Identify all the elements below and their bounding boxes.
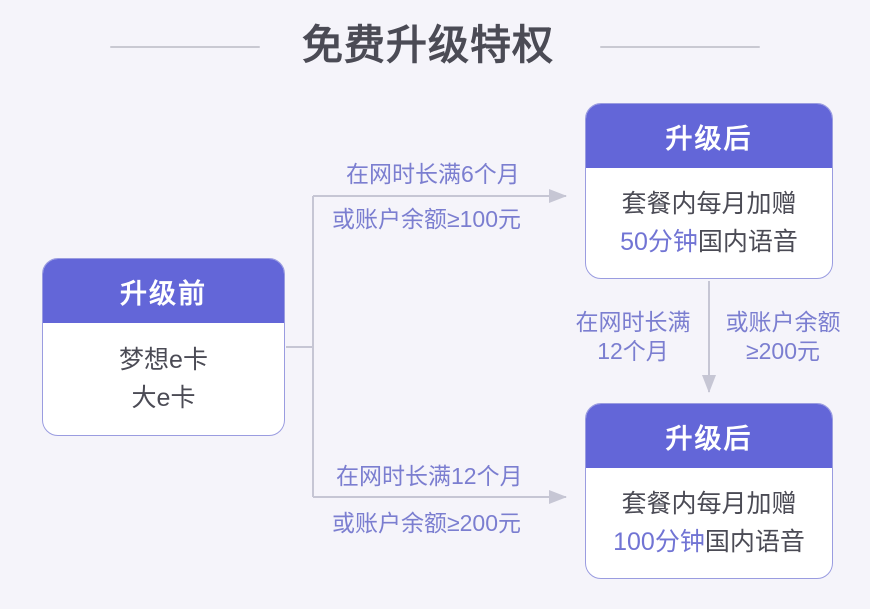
page-title: 免费升级特权 <box>302 25 554 66</box>
edge-label-top-condition-2: 或账户余额≥100元 <box>332 205 521 234</box>
edge-label-middle-right-line-1: 或账户余额 <box>718 308 848 337</box>
page-title-block: 免费升级特权 <box>0 10 870 80</box>
card-after-upgrade-bottom-value: 100分钟 <box>613 528 705 556</box>
card-after-upgrade-bottom-line-2: 100分钟国内语音 <box>613 523 805 561</box>
card-after-upgrade-top-unit: 国内语音 <box>698 228 798 256</box>
title-rule-left <box>110 46 260 48</box>
card-after-upgrade-bottom-unit: 国内语音 <box>705 528 805 556</box>
edge-label-middle-left-line-2: 12个月 <box>568 337 698 366</box>
card-before-upgrade-line-2: 大e卡 <box>132 379 196 417</box>
edge-label-bottom-condition-1: 在网时长满12个月 <box>336 462 523 491</box>
title-rule-right <box>600 46 760 48</box>
edge-label-top-condition-1: 在网时长满6个月 <box>346 160 520 189</box>
card-before-upgrade-header: 升级前 <box>43 259 284 323</box>
card-after-upgrade-bottom-header: 升级后 <box>586 404 832 468</box>
edge-label-middle-left-line-1: 在网时长满 <box>568 308 698 337</box>
edge-label-bottom-condition-2: 或账户余额≥200元 <box>332 509 521 538</box>
edge-label-middle-left: 在网时长满 12个月 <box>568 308 698 366</box>
diagram-canvas: 免费升级特权 升级前 梦想e卡 大e卡 升级后 套餐内每月加赠 <box>0 0 870 609</box>
card-before-upgrade-body: 梦想e卡 大e卡 <box>43 323 284 435</box>
edge-label-middle-right-line-2: ≥200元 <box>718 337 848 366</box>
card-after-upgrade-bottom-line-1: 套餐内每月加赠 <box>621 485 796 523</box>
card-before-upgrade-line-1: 梦想e卡 <box>119 341 208 379</box>
card-after-upgrade-top-body: 套餐内每月加赠 50分钟国内语音 <box>586 168 832 278</box>
card-after-upgrade-top-line-2: 50分钟国内语音 <box>620 223 798 261</box>
card-after-upgrade-bottom: 升级后 套餐内每月加赠 100分钟国内语音 <box>585 403 833 579</box>
card-after-upgrade-top-header: 升级后 <box>586 104 832 168</box>
edge-label-middle-right: 或账户余额 ≥200元 <box>718 308 848 366</box>
card-before-upgrade: 升级前 梦想e卡 大e卡 <box>42 258 285 436</box>
card-after-upgrade-top: 升级后 套餐内每月加赠 50分钟国内语音 <box>585 103 833 279</box>
card-after-upgrade-top-line-1: 套餐内每月加赠 <box>621 185 796 223</box>
card-after-upgrade-bottom-body: 套餐内每月加赠 100分钟国内语音 <box>586 468 832 578</box>
card-after-upgrade-top-value: 50分钟 <box>620 228 698 256</box>
